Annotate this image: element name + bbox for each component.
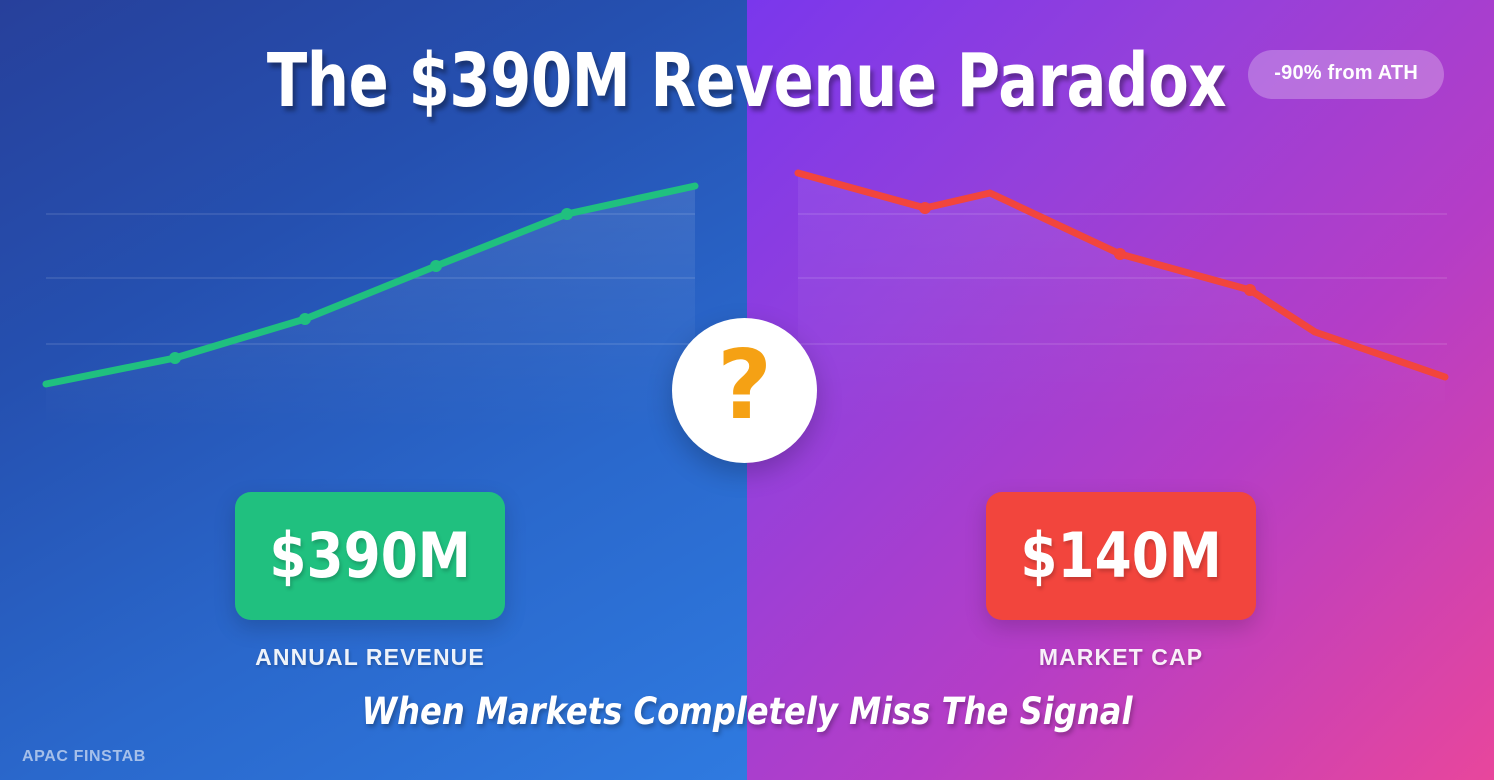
page-title: The $390M Revenue Paradox (267, 44, 1226, 118)
metric-value-box-market-cap: $140M (986, 492, 1256, 620)
tagline-text: When Markets Completely Miss The Signal (362, 693, 1133, 730)
question-mark-badge: ? (672, 318, 817, 463)
infographic-canvas: The $390M Revenue Paradox -90% from ATH … (0, 0, 1494, 780)
metric-label-market-cap: MARKET CAP (971, 644, 1271, 671)
metric-annual-revenue: $390M ANNUAL REVENUE (220, 492, 520, 671)
metric-value-revenue: $390M (269, 525, 470, 587)
metric-market-cap: $140M MARKET CAP (971, 492, 1271, 671)
question-mark-icon: ? (717, 339, 772, 434)
status-badge: -90% from ATH (1248, 50, 1444, 99)
metric-value-market-cap: $140M (1020, 525, 1221, 587)
metric-label-revenue: ANNUAL REVENUE (220, 644, 520, 671)
watermark: APAC FINSTAB (22, 748, 146, 766)
metric-value-box-revenue: $390M (235, 492, 505, 620)
tagline-row: When Markets Completely Miss The Signal (0, 693, 1494, 730)
